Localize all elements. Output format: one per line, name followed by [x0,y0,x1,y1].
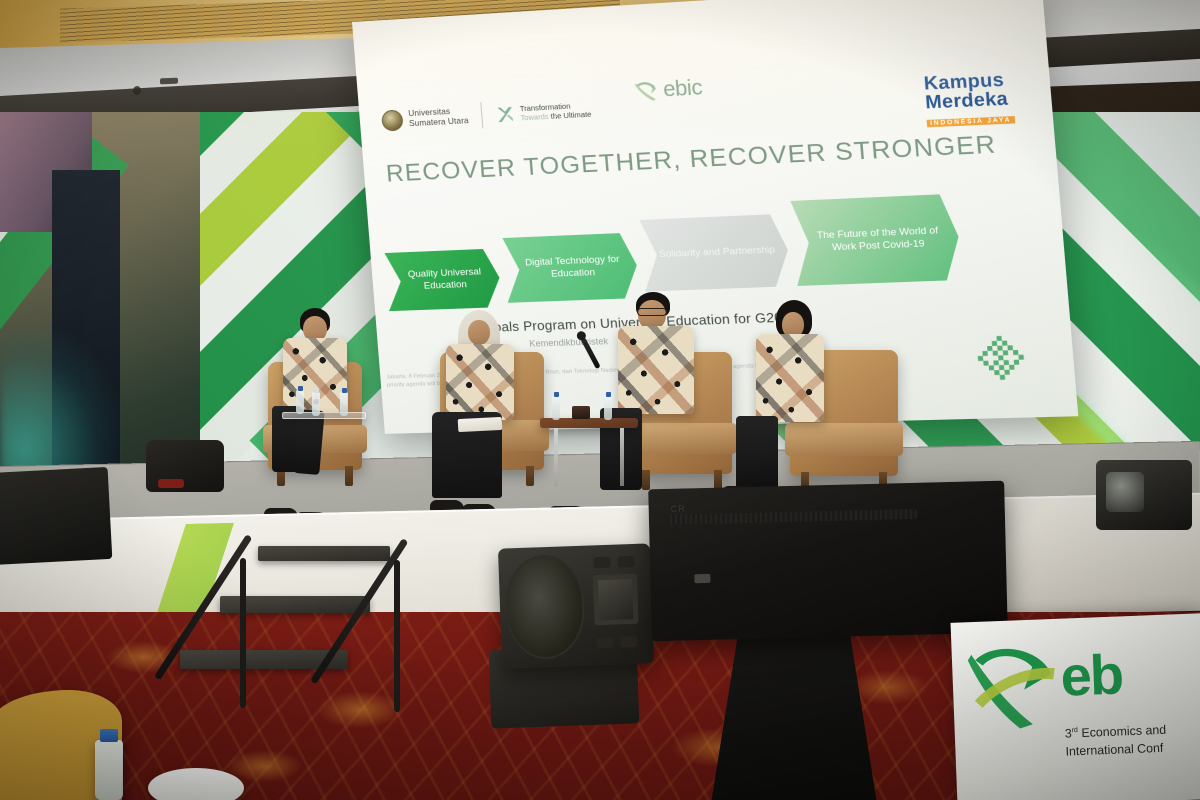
ebic-logo-icon [965,637,1060,732]
stair-step-top [258,546,390,561]
chevron-future-world-of-work: The Future of the World of Work Post Cov… [790,194,962,286]
ebic-floor-banner: eb 3rd Economics and International Conf [951,613,1200,800]
monitor-port-icon [694,574,710,583]
monitor-brand-label: CR [671,503,686,513]
ceiling-sensor-icon [160,78,178,85]
transformation-line2-dark: the Ultimate [550,110,591,121]
transformation-x-icon [495,104,516,124]
slide-title: RECOVER TOGETHER, RECOVER STRONGER [385,129,1018,188]
panelist-4-batik-jacket [756,334,824,422]
kampus-merdeka-tagline: INDONESIA JAYA [927,116,1015,127]
university-seal-icon [381,109,404,131]
decorative-qr-diamond-icon [973,333,1028,383]
ebic-banner-line2: International Conf [1065,741,1163,759]
speaker-horn-icon [593,574,639,626]
conference-panel-photo: Universitas Sumatera Utara Transformatio… [0,0,1200,800]
foreground-plate [148,768,244,800]
slide-chevron-row: Quality Universal Education Digital Tech… [382,192,1055,321]
universitas-sumatera-utara-logo: Universitas Sumatera Utara [381,105,469,131]
ebic-banner-wordmark: eb [1060,646,1123,704]
chevron-digital-technology-for-education: Digital Technology for Education [502,232,639,302]
slide-subtitle-small: Kemendikbudristek [529,336,609,349]
transformation-logo: Transformation Towards the Ultimate [495,100,592,124]
panelist-2-face [468,320,490,345]
equipment-bag [146,440,224,492]
stage-monitor-speaker [498,543,654,668]
panelist-3-glasses-icon [637,308,667,316]
university-name-line2: Sumatera Utara [409,116,469,129]
panelist-2-notebook [458,417,503,432]
kampus-merdeka-logo: Kampus Merdeka INDONESIA JAYA [924,71,1016,131]
left-stage-equipment [0,467,112,565]
speaker-cone-icon [504,554,586,661]
water-bottle [296,390,304,414]
monitor-vent-icon [667,509,917,525]
panelist-1-side-table [282,412,366,419]
water-bottle [340,392,348,416]
ebic-wordmark: ebic [662,76,703,103]
right-stage-light [1096,460,1192,530]
chevron-solidarity-and-partnership: Solidarity and Partnership [639,214,791,292]
water-bottle [312,392,320,416]
water-bottle [552,396,560,420]
kampus-merdeka-line2: Merdeka [925,89,1014,112]
chevron-quality-universal-education: Quality Universal Education [384,248,501,311]
logo-divider [480,102,483,128]
panelist-2-batik-jacket [446,344,514,420]
ebic-banner-line1: 3rd Economics and [1065,723,1167,741]
transformation-line2-light: Towards [520,112,549,123]
ebic-logo-slide: ebic [632,75,703,105]
drinking-glass [572,406,590,419]
panelist-4-leg [736,416,778,490]
slide-logo-row: Universitas Sumatera Utara Transformatio… [380,63,1037,143]
ebic-swoosh-icon [632,77,661,105]
foreground-water-bottle [95,740,123,800]
stage-display-monitor: CR [648,481,1008,642]
panelist-3-batik-jacket [618,326,694,414]
stage-stairs [180,522,438,722]
water-bottle [604,396,612,420]
